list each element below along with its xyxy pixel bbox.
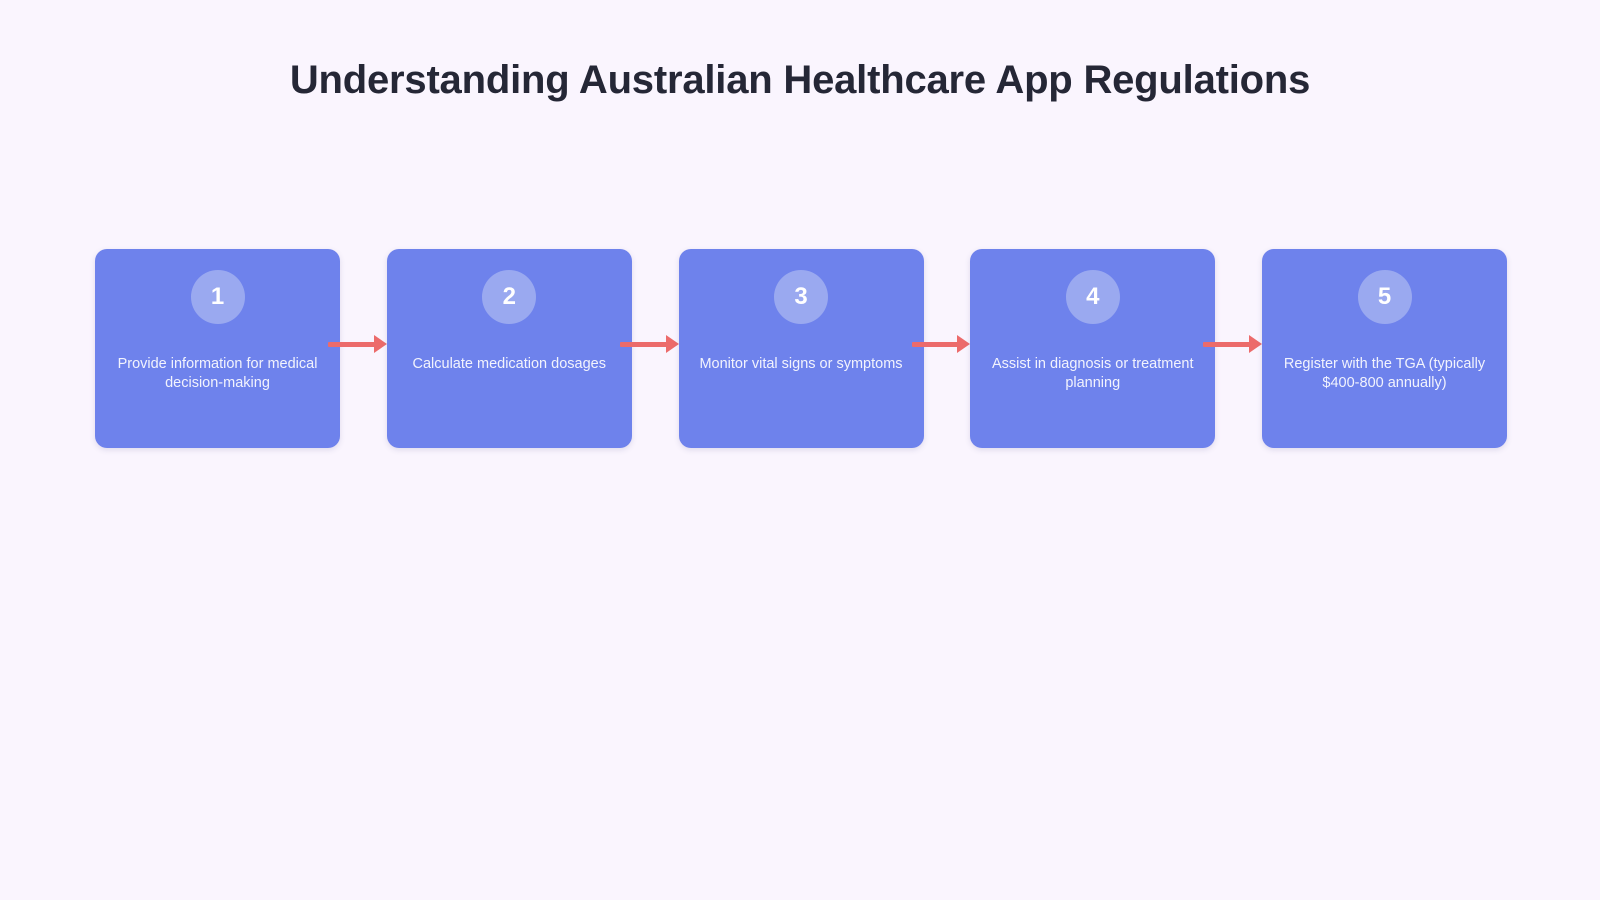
step-label: Provide information for medical decision…	[109, 355, 326, 392]
step-label: Monitor vital signs or symptoms	[693, 355, 910, 374]
flow-step-2[interactable]: 2 Calculate medication dosages	[387, 249, 632, 448]
flow-connector-1-2	[340, 249, 387, 448]
flow-step-3[interactable]: 3 Monitor vital signs or symptoms	[679, 249, 924, 448]
flow-connector-2-3	[632, 249, 679, 448]
flow-step-5[interactable]: 5 Register with the TGA (typically $400-…	[1262, 249, 1507, 448]
step-number-badge: 5	[1358, 270, 1412, 324]
arrow-right-icon-shaft	[620, 342, 668, 347]
arrow-right-icon-head	[1249, 335, 1262, 353]
step-label: Calculate medication dosages	[401, 355, 618, 374]
flow-step-1[interactable]: 1 Provide information for medical decisi…	[95, 249, 340, 448]
step-number-badge: 3	[774, 270, 828, 324]
step-label: Register with the TGA (typically $400-80…	[1276, 355, 1493, 392]
page-title: Understanding Australian Healthcare App …	[0, 56, 1600, 104]
step-number-badge: 4	[1066, 270, 1120, 324]
flow-connector-3-4	[924, 249, 971, 448]
step-number-badge: 1	[191, 270, 245, 324]
arrow-right-icon-shaft	[1203, 342, 1251, 347]
step-label: Assist in diagnosis or treatment plannin…	[984, 355, 1201, 392]
arrow-right-icon-head	[666, 335, 679, 353]
step-number-badge: 2	[482, 270, 536, 324]
arrow-right-icon-head	[957, 335, 970, 353]
process-flow-diagram: 1 Provide information for medical decisi…	[95, 249, 1507, 448]
arrow-right-icon-shaft	[912, 342, 960, 347]
arrow-right-icon-head	[374, 335, 387, 353]
flow-connector-4-5	[1215, 249, 1262, 448]
flow-step-4[interactable]: 4 Assist in diagnosis or treatment plann…	[970, 249, 1215, 448]
arrow-right-icon-shaft	[328, 342, 376, 347]
